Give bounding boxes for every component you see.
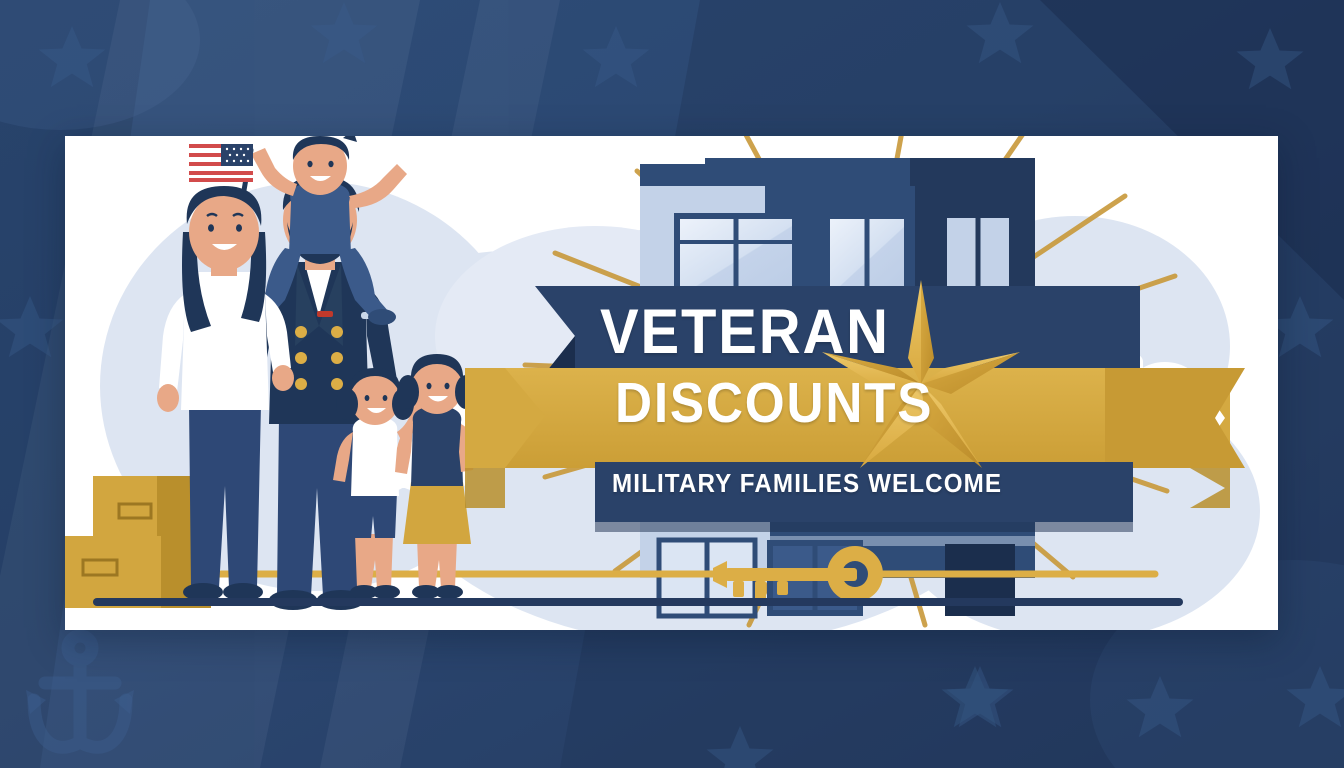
american-flag-icon [189,144,253,182]
illustration [65,136,1278,630]
ground-line [93,598,1183,606]
banner-card [65,136,1278,630]
window-upper-right [941,218,1015,297]
window-upper-left [821,216,913,295]
ribbon-subtitle [595,462,1133,532]
